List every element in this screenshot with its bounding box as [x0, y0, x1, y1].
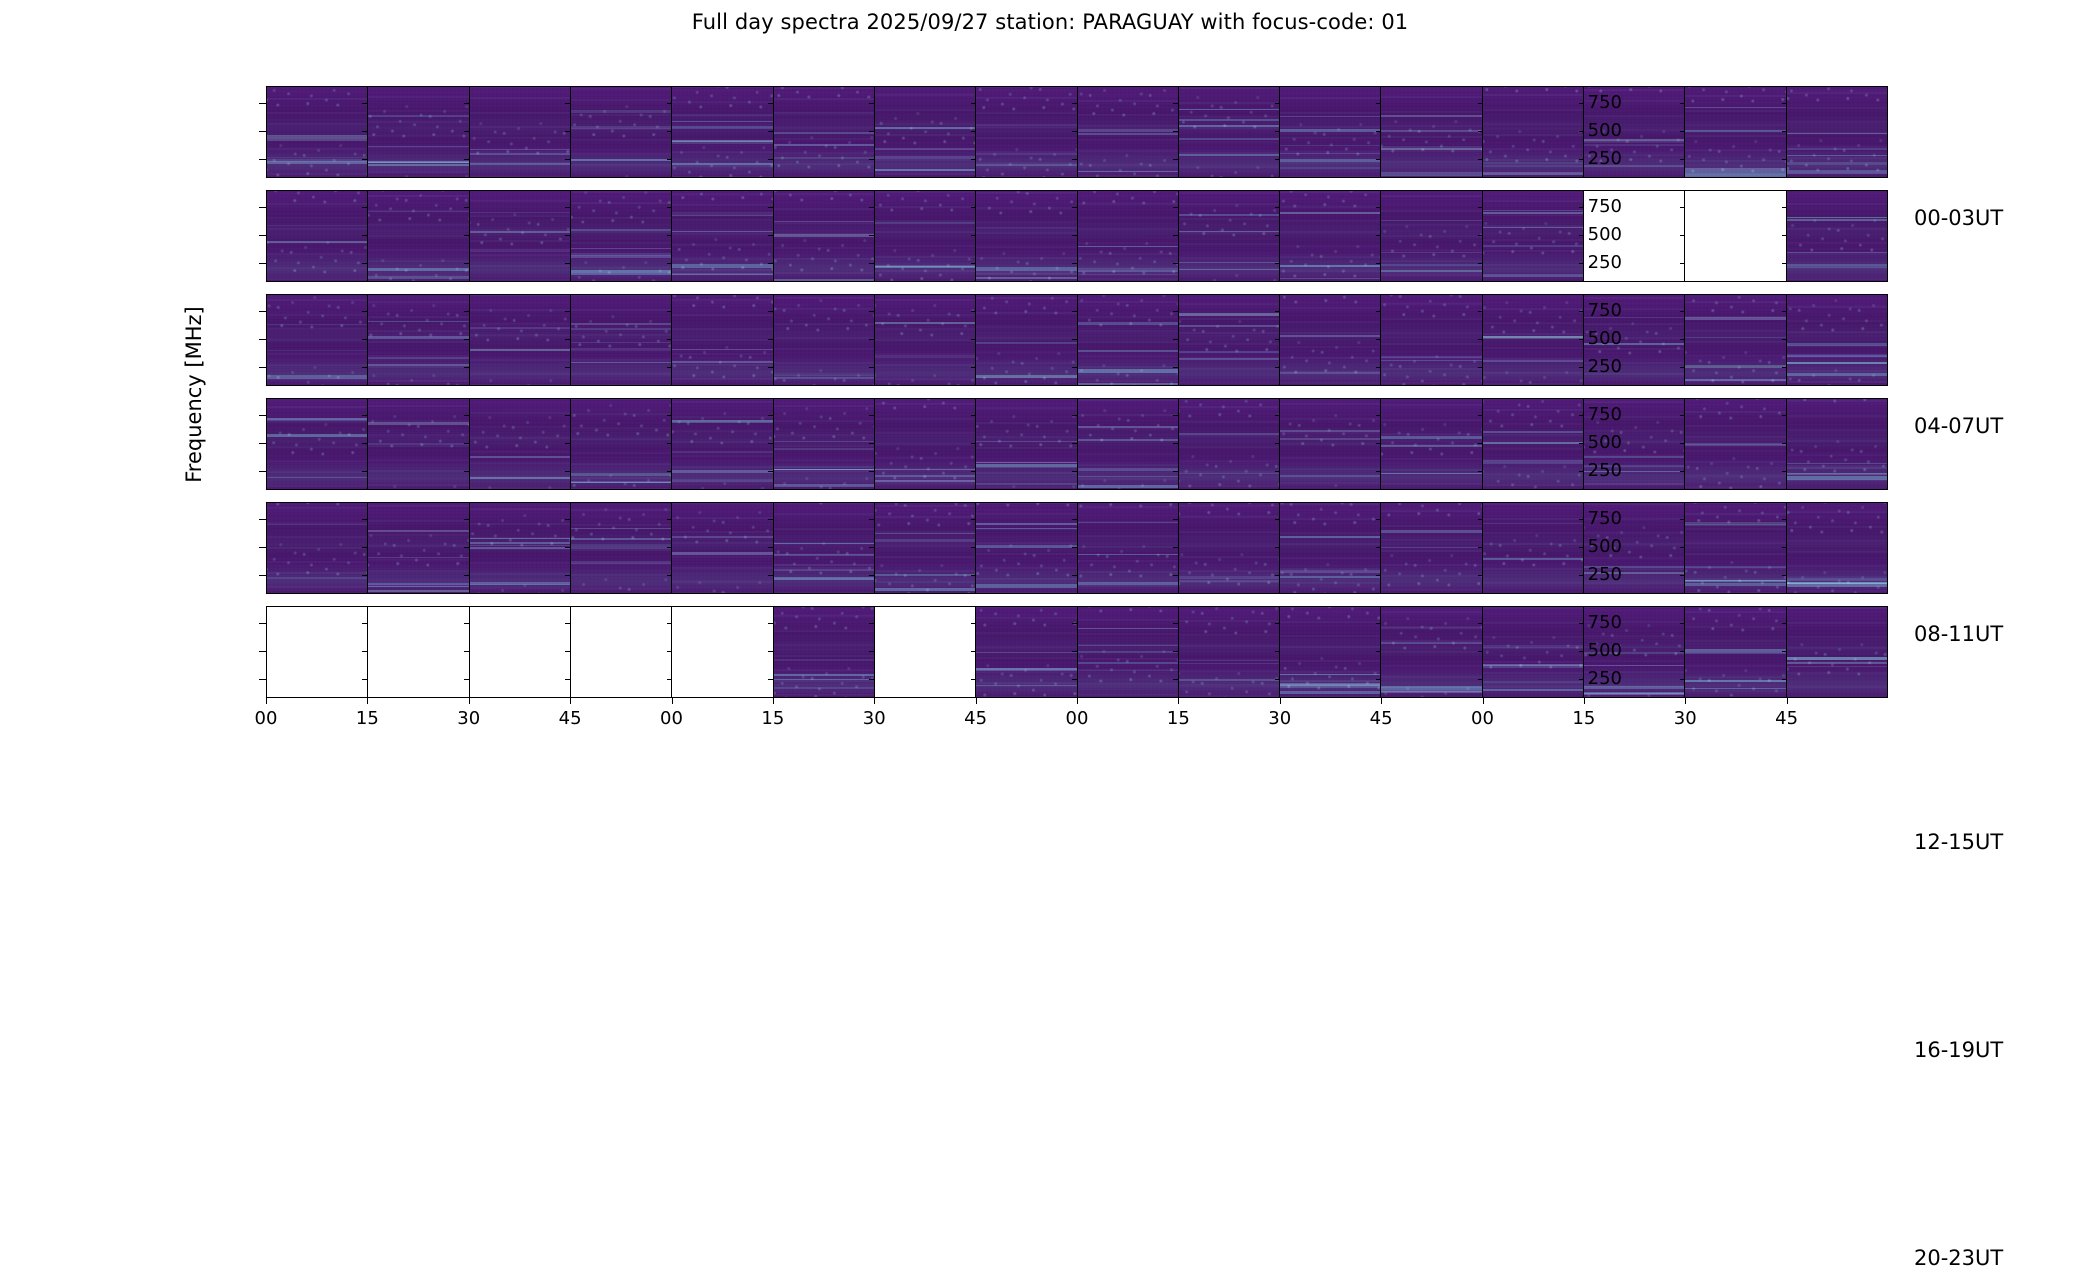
- panel-inner-tick: [464, 159, 469, 160]
- texture-layer: [875, 191, 975, 281]
- panel-inner-tick: [1782, 235, 1787, 236]
- spectrogram-panel[interactable]: [1078, 295, 1179, 385]
- panel-inner-tick: [1072, 263, 1077, 264]
- panel-inner-tick: [464, 415, 469, 416]
- texture-layer: [368, 191, 468, 281]
- panel-inner-tick: [1579, 311, 1584, 312]
- spectrogram-panel[interactable]: [774, 295, 875, 385]
- panel-inner-tick: [1782, 263, 1787, 264]
- spectrogram-panel[interactable]: [571, 87, 672, 177]
- data-gap-panel[interactable]: [571, 607, 672, 697]
- texture-layer: [1381, 87, 1481, 177]
- panel-inner-tick: [869, 575, 874, 576]
- panel-inner-tick: [1782, 103, 1787, 104]
- spectrogram-panel[interactable]: [267, 295, 368, 385]
- panel-inner-tick: [1478, 443, 1483, 444]
- panel-inner-tick: [362, 235, 367, 236]
- row-axes[interactable]: [266, 398, 1888, 490]
- spectrogram-panel[interactable]: [1280, 87, 1381, 177]
- panel-inner-tick: [1680, 519, 1685, 520]
- panel-inner-tick: [1173, 235, 1178, 236]
- spectrogram-panel[interactable]: [672, 295, 773, 385]
- panel-inner-tick: [869, 443, 874, 444]
- panel-inner-tick: [667, 471, 672, 472]
- panel-inner-tick: [1072, 575, 1077, 576]
- x-axis-tick: [1584, 698, 1585, 704]
- panel-inner-tick: [667, 547, 672, 548]
- panel-inner-tick: [869, 651, 874, 652]
- spectrogram-panel[interactable]: [267, 87, 368, 177]
- y-axis-tick: [259, 131, 266, 132]
- panel-inner-tick: [464, 547, 469, 548]
- panel-inner-tick: [1275, 103, 1280, 104]
- panel-inner-tick: [1579, 235, 1584, 236]
- data-gap-panel[interactable]: [267, 607, 368, 697]
- panel-inner-tick: [1173, 339, 1178, 340]
- panel-inner-tick: [1680, 443, 1685, 444]
- spectrogram-panel[interactable]: [1787, 87, 1887, 177]
- panel-inner-tick: [667, 443, 672, 444]
- panel-inner-tick: [768, 339, 773, 340]
- panel-inner-tick: [464, 235, 469, 236]
- texture-layer: [1787, 295, 1887, 385]
- panel-inner-tick: [1376, 575, 1381, 576]
- texture-layer: [1179, 87, 1279, 177]
- texture-layer: [875, 503, 975, 593]
- texture-layer: [1787, 399, 1887, 489]
- panel-inner-tick: [1376, 159, 1381, 160]
- spectrogram-panel[interactable]: [1787, 607, 1887, 697]
- panel-inner-tick: [1376, 263, 1381, 264]
- texture-layer: [1787, 191, 1887, 281]
- panel-inner-tick: [464, 367, 469, 368]
- texture-layer: [1381, 399, 1481, 489]
- panel-inner-tick: [1478, 651, 1483, 652]
- x-axis-tick-label: 15: [1554, 710, 1614, 728]
- panel-inner-tick: [1782, 159, 1787, 160]
- spectrogram-row: 75050025016-19UT: [266, 502, 1888, 594]
- spectrogram-panel[interactable]: [875, 503, 976, 593]
- panel-inner-tick: [1376, 651, 1381, 652]
- panel-inner-tick: [768, 575, 773, 576]
- data-gap-panel[interactable]: [470, 607, 571, 697]
- spectrogram-panel[interactable]: [976, 503, 1077, 593]
- panel-inner-tick: [1173, 651, 1178, 652]
- texture-layer: [470, 191, 570, 281]
- spectrogram-panel[interactable]: [470, 295, 571, 385]
- y-axis-tick: [259, 235, 266, 236]
- panel-inner-tick: [971, 131, 976, 132]
- texture-layer: [774, 607, 874, 697]
- spectrogram-panel[interactable]: [368, 295, 469, 385]
- texture-layer: [875, 399, 975, 489]
- texture-layer: [1078, 295, 1178, 385]
- panel-inner-tick: [869, 367, 874, 368]
- panel-inner-tick: [1173, 471, 1178, 472]
- panel-inner-tick: [768, 131, 773, 132]
- panel-inner-tick: [1275, 159, 1280, 160]
- panel-inner-tick: [1478, 235, 1483, 236]
- panel-inner-tick: [768, 651, 773, 652]
- texture-layer: [267, 191, 367, 281]
- panel-inner-tick: [362, 339, 367, 340]
- panel-inner-tick: [362, 415, 367, 416]
- x-axis-tick: [1685, 698, 1686, 704]
- spectrogram-panel[interactable]: [1280, 607, 1381, 697]
- panel-inner-tick: [362, 547, 367, 548]
- spectrogram-panel[interactable]: [267, 399, 368, 489]
- spectrogram-panel[interactable]: [571, 295, 672, 385]
- spectrogram-panel[interactable]: [368, 503, 469, 593]
- spectrogram-panel[interactable]: [672, 87, 773, 177]
- x-axis-tick: [773, 698, 774, 704]
- texture-layer: [470, 295, 570, 385]
- texture-layer: [470, 87, 570, 177]
- x-axis-tick-label: 45: [540, 710, 600, 728]
- texture-layer: [1381, 191, 1481, 281]
- spectrogram-panel[interactable]: [1179, 503, 1280, 593]
- panel-inner-tick: [1376, 103, 1381, 104]
- panel-inner-tick: [1275, 339, 1280, 340]
- panel-inner-tick: [1376, 679, 1381, 680]
- spectrogram-panel[interactable]: [1787, 399, 1887, 489]
- spectrogram-panel[interactable]: [976, 399, 1077, 489]
- panel-inner-tick: [1579, 651, 1584, 652]
- panel-inner-tick: [1782, 651, 1787, 652]
- data-gap-panel[interactable]: [672, 607, 773, 697]
- spectrogram-panel[interactable]: [1685, 607, 1786, 697]
- spectrogram-panel[interactable]: [976, 295, 1077, 385]
- panel-inner-tick: [768, 443, 773, 444]
- texture-layer: [1685, 399, 1785, 489]
- row-axes[interactable]: [266, 86, 1888, 178]
- panel-inner-tick: [1275, 547, 1280, 548]
- panel-inner-tick: [1275, 519, 1280, 520]
- panel-inner-tick: [464, 103, 469, 104]
- spectrogram-panel[interactable]: [672, 503, 773, 593]
- y-axis-tick: [259, 367, 266, 368]
- panel-inner-tick: [1376, 207, 1381, 208]
- panel-inner-tick: [667, 679, 672, 680]
- texture-layer: [774, 87, 874, 177]
- spectrogram-panel[interactable]: [1787, 503, 1887, 593]
- spectrogram-panel[interactable]: [1078, 503, 1179, 593]
- spectrogram-panel[interactable]: [470, 399, 571, 489]
- data-gap-panel[interactable]: [368, 607, 469, 697]
- panel-inner-tick: [565, 443, 570, 444]
- panel-inner-tick: [971, 651, 976, 652]
- panel-inner-tick: [971, 311, 976, 312]
- panel-inner-tick: [1478, 575, 1483, 576]
- spectrogram-panel[interactable]: [470, 87, 571, 177]
- spectrogram-panel[interactable]: [1078, 87, 1179, 177]
- spectrogram-panel[interactable]: [672, 399, 773, 489]
- panel-inner-tick: [1376, 415, 1381, 416]
- panel-inner-tick: [1376, 547, 1381, 548]
- row-time-label: 20-23UT: [1914, 1248, 2003, 1269]
- spectrogram-panel[interactable]: [368, 191, 469, 281]
- spectrogram-panel[interactable]: [1179, 87, 1280, 177]
- panel-inner-tick: [1579, 415, 1584, 416]
- spectrogram-panel[interactable]: [1179, 399, 1280, 489]
- panel-inner-tick: [869, 547, 874, 548]
- panel-inner-tick: [667, 159, 672, 160]
- spectrogram-panel[interactable]: [875, 191, 976, 281]
- spectrogram-panel[interactable]: [470, 503, 571, 593]
- panel-inner-tick: [667, 103, 672, 104]
- panel-inner-tick: [362, 679, 367, 680]
- panel-inner-tick: [768, 415, 773, 416]
- panel-inner-tick: [1680, 311, 1685, 312]
- panel-inner-tick: [565, 651, 570, 652]
- spectrogram-panel[interactable]: [1381, 191, 1482, 281]
- panel-inner-tick: [1173, 207, 1178, 208]
- spectrogram-panel[interactable]: [875, 87, 976, 177]
- spectrogram-panel[interactable]: [976, 607, 1077, 697]
- panel-inner-tick: [1680, 575, 1685, 576]
- panel-inner-tick: [1782, 679, 1787, 680]
- panel-inner-tick: [1072, 235, 1077, 236]
- spectrogram-panel[interactable]: [976, 87, 1077, 177]
- panel-inner-tick: [1680, 679, 1685, 680]
- texture-layer: [1280, 295, 1380, 385]
- panel-inner-tick: [1579, 131, 1584, 132]
- panel-inner-tick: [1072, 623, 1077, 624]
- panel-inner-tick: [565, 339, 570, 340]
- panel-inner-tick: [768, 311, 773, 312]
- panel-inner-tick: [971, 623, 976, 624]
- panel-inner-tick: [1579, 575, 1584, 576]
- x-axis-tick-label: 00: [1453, 710, 1513, 728]
- spectrogram-row: 75050025000-03UT: [266, 86, 1888, 178]
- x-axis-tick: [874, 698, 875, 704]
- panel-inner-tick: [565, 311, 570, 312]
- panel-inner-tick: [1478, 367, 1483, 368]
- panel-inner-tick: [971, 415, 976, 416]
- panel-inner-tick: [565, 519, 570, 520]
- spectrogram-panel[interactable]: [1078, 191, 1179, 281]
- texture-layer: [1381, 607, 1481, 697]
- spectrogram-panel[interactable]: [1280, 295, 1381, 385]
- texture-layer: [571, 87, 671, 177]
- panel-inner-tick: [667, 235, 672, 236]
- panel-inner-tick: [362, 103, 367, 104]
- panel-inner-tick: [1275, 679, 1280, 680]
- texture-layer: [1685, 87, 1785, 177]
- panel-inner-tick: [1173, 159, 1178, 160]
- panel-inner-tick: [667, 651, 672, 652]
- x-axis-tick-label: 15: [743, 710, 803, 728]
- x-axis-tick-label: 15: [1148, 710, 1208, 728]
- texture-layer: [1078, 87, 1178, 177]
- panel-strip: [267, 503, 1887, 593]
- row-axes[interactable]: [266, 190, 1888, 282]
- panel-inner-tick: [768, 519, 773, 520]
- panel-inner-tick: [1376, 623, 1381, 624]
- spectrogram-panel[interactable]: [267, 503, 368, 593]
- panel-inner-tick: [1579, 263, 1584, 264]
- panel-inner-tick: [1782, 367, 1787, 368]
- data-gap-panel[interactable]: [1685, 191, 1786, 281]
- panel-inner-tick: [1782, 575, 1787, 576]
- panel-inner-tick: [1680, 623, 1685, 624]
- panel-inner-tick: [1072, 339, 1077, 340]
- panel-inner-tick: [667, 519, 672, 520]
- panel-inner-tick: [1579, 679, 1584, 680]
- panel-inner-tick: [1275, 367, 1280, 368]
- spectrogram-panel[interactable]: [1685, 399, 1786, 489]
- row-axes[interactable]: [266, 294, 1888, 386]
- panel-inner-tick: [1376, 339, 1381, 340]
- panel-inner-tick: [869, 623, 874, 624]
- x-axis-tick-label: 45: [946, 710, 1006, 728]
- spectrogram-panel[interactable]: [774, 607, 875, 697]
- spectrogram-panel[interactable]: [1787, 295, 1887, 385]
- x-axis-tick-label: 00: [642, 710, 702, 728]
- spectrogram-panel[interactable]: [1685, 503, 1786, 593]
- panel-inner-tick: [1275, 651, 1280, 652]
- spectrogram-row: 75050025020-23UT: [266, 606, 1888, 698]
- spectrogram-row: 75050025004-07UT: [266, 190, 1888, 282]
- spectrogram-panel[interactable]: [470, 191, 571, 281]
- panel-inner-tick: [1478, 131, 1483, 132]
- spectrogram-panel[interactable]: [1381, 503, 1482, 593]
- spectrogram-panel[interactable]: [875, 399, 976, 489]
- texture-layer: [774, 295, 874, 385]
- panel-inner-tick: [1275, 415, 1280, 416]
- panel-inner-tick: [1478, 103, 1483, 104]
- panel-strip: [267, 87, 1887, 177]
- panel-inner-tick: [1173, 623, 1178, 624]
- panel-inner-tick: [971, 519, 976, 520]
- panel-inner-tick: [971, 367, 976, 368]
- spectrogram-panel[interactable]: [1787, 191, 1887, 281]
- texture-layer: [976, 607, 1076, 697]
- panel-inner-tick: [1275, 575, 1280, 576]
- texture-layer: [672, 503, 772, 593]
- y-axis-tick: [259, 311, 266, 312]
- row-axes[interactable]: [266, 606, 1888, 698]
- y-axis-tick: [259, 471, 266, 472]
- panel-inner-tick: [869, 415, 874, 416]
- spectrogram-panel[interactable]: [1381, 87, 1482, 177]
- spectrogram-panel[interactable]: [976, 191, 1077, 281]
- x-axis-tick: [1381, 698, 1382, 704]
- spectrogram-panel[interactable]: [1381, 399, 1482, 489]
- spectrogram-panel[interactable]: [571, 191, 672, 281]
- spectrogram-panel[interactable]: [571, 399, 672, 489]
- texture-layer: [1787, 87, 1887, 177]
- panel-inner-tick: [667, 263, 672, 264]
- panel-inner-tick: [971, 103, 976, 104]
- panel-inner-tick: [362, 575, 367, 576]
- panel-inner-tick: [1579, 623, 1584, 624]
- spectrogram-panel[interactable]: [368, 87, 469, 177]
- spectrogram-panel[interactable]: [875, 295, 976, 385]
- panel-inner-tick: [1579, 443, 1584, 444]
- spectrogram-panel[interactable]: [571, 503, 672, 593]
- panel-inner-tick: [1072, 367, 1077, 368]
- panel-inner-tick: [768, 547, 773, 548]
- panel-inner-tick: [1376, 311, 1381, 312]
- spectrogram-panel[interactable]: [1179, 607, 1280, 697]
- panel-strip: [267, 295, 1887, 385]
- spectrogram-panel[interactable]: [267, 191, 368, 281]
- x-axis-tick: [1787, 698, 1788, 704]
- panel-inner-tick: [362, 471, 367, 472]
- texture-layer: [1685, 607, 1785, 697]
- spectrogram-panel[interactable]: [774, 399, 875, 489]
- spectrogram-panel[interactable]: [1381, 607, 1482, 697]
- panel-inner-tick: [1275, 131, 1280, 132]
- data-gap-panel[interactable]: [875, 607, 976, 697]
- spectrogram-panel[interactable]: [1280, 399, 1381, 489]
- spectrogram-panel[interactable]: [1179, 191, 1280, 281]
- panel-inner-tick: [565, 263, 570, 264]
- panel-inner-tick: [1275, 471, 1280, 472]
- panel-inner-tick: [971, 443, 976, 444]
- row-time-label: 12-15UT: [1914, 832, 2003, 853]
- spectrogram-panel[interactable]: [368, 399, 469, 489]
- panel-inner-tick: [1173, 367, 1178, 368]
- texture-layer: [672, 191, 772, 281]
- spectrogram-panel[interactable]: [1280, 191, 1381, 281]
- texture-layer: [1078, 607, 1178, 697]
- spectrogram-panel[interactable]: [774, 87, 875, 177]
- panel-inner-tick: [869, 679, 874, 680]
- x-axis-tick-label: 30: [1250, 710, 1310, 728]
- x-axis-tick-label: 30: [1655, 710, 1715, 728]
- texture-layer: [875, 295, 975, 385]
- spectrogram-panel[interactable]: [1179, 295, 1280, 385]
- panel-inner-tick: [869, 235, 874, 236]
- panel-inner-tick: [1275, 443, 1280, 444]
- spectrogram-panel[interactable]: [1381, 295, 1482, 385]
- panel-inner-tick: [1579, 339, 1584, 340]
- panel-inner-tick: [667, 623, 672, 624]
- panel-inner-tick: [1478, 263, 1483, 264]
- spectrogram-panel[interactable]: [774, 503, 875, 593]
- panel-inner-tick: [1478, 311, 1483, 312]
- spectrogram-panel[interactable]: [1078, 399, 1179, 489]
- panel-inner-tick: [768, 207, 773, 208]
- panel-inner-tick: [1782, 623, 1787, 624]
- row-axes[interactable]: [266, 502, 1888, 594]
- panel-inner-tick: [1376, 519, 1381, 520]
- panel-inner-tick: [1173, 311, 1178, 312]
- panel-inner-tick: [565, 159, 570, 160]
- spectrogram-panel[interactable]: [1685, 87, 1786, 177]
- y-axis-tick: [259, 547, 266, 548]
- spectrogram-panel[interactable]: [1685, 295, 1786, 385]
- spectrogram-panel[interactable]: [672, 191, 773, 281]
- panel-inner-tick: [869, 311, 874, 312]
- x-axis-tick-label: 30: [844, 710, 904, 728]
- panel-inner-tick: [1173, 519, 1178, 520]
- y-axis-label-text: Frequency [MHz]: [181, 86, 207, 703]
- texture-layer: [1381, 295, 1481, 385]
- panel-inner-tick: [1478, 339, 1483, 340]
- panel-inner-tick: [667, 339, 672, 340]
- spectrogram-panel[interactable]: [1280, 503, 1381, 593]
- panel-inner-tick: [1275, 311, 1280, 312]
- panel-inner-tick: [565, 131, 570, 132]
- spectrogram-panel[interactable]: [774, 191, 875, 281]
- panel-strip: [267, 399, 1887, 489]
- x-axis-tick-label: 15: [337, 710, 397, 728]
- spectrogram-panel[interactable]: [1078, 607, 1179, 697]
- panel-inner-tick: [1680, 339, 1685, 340]
